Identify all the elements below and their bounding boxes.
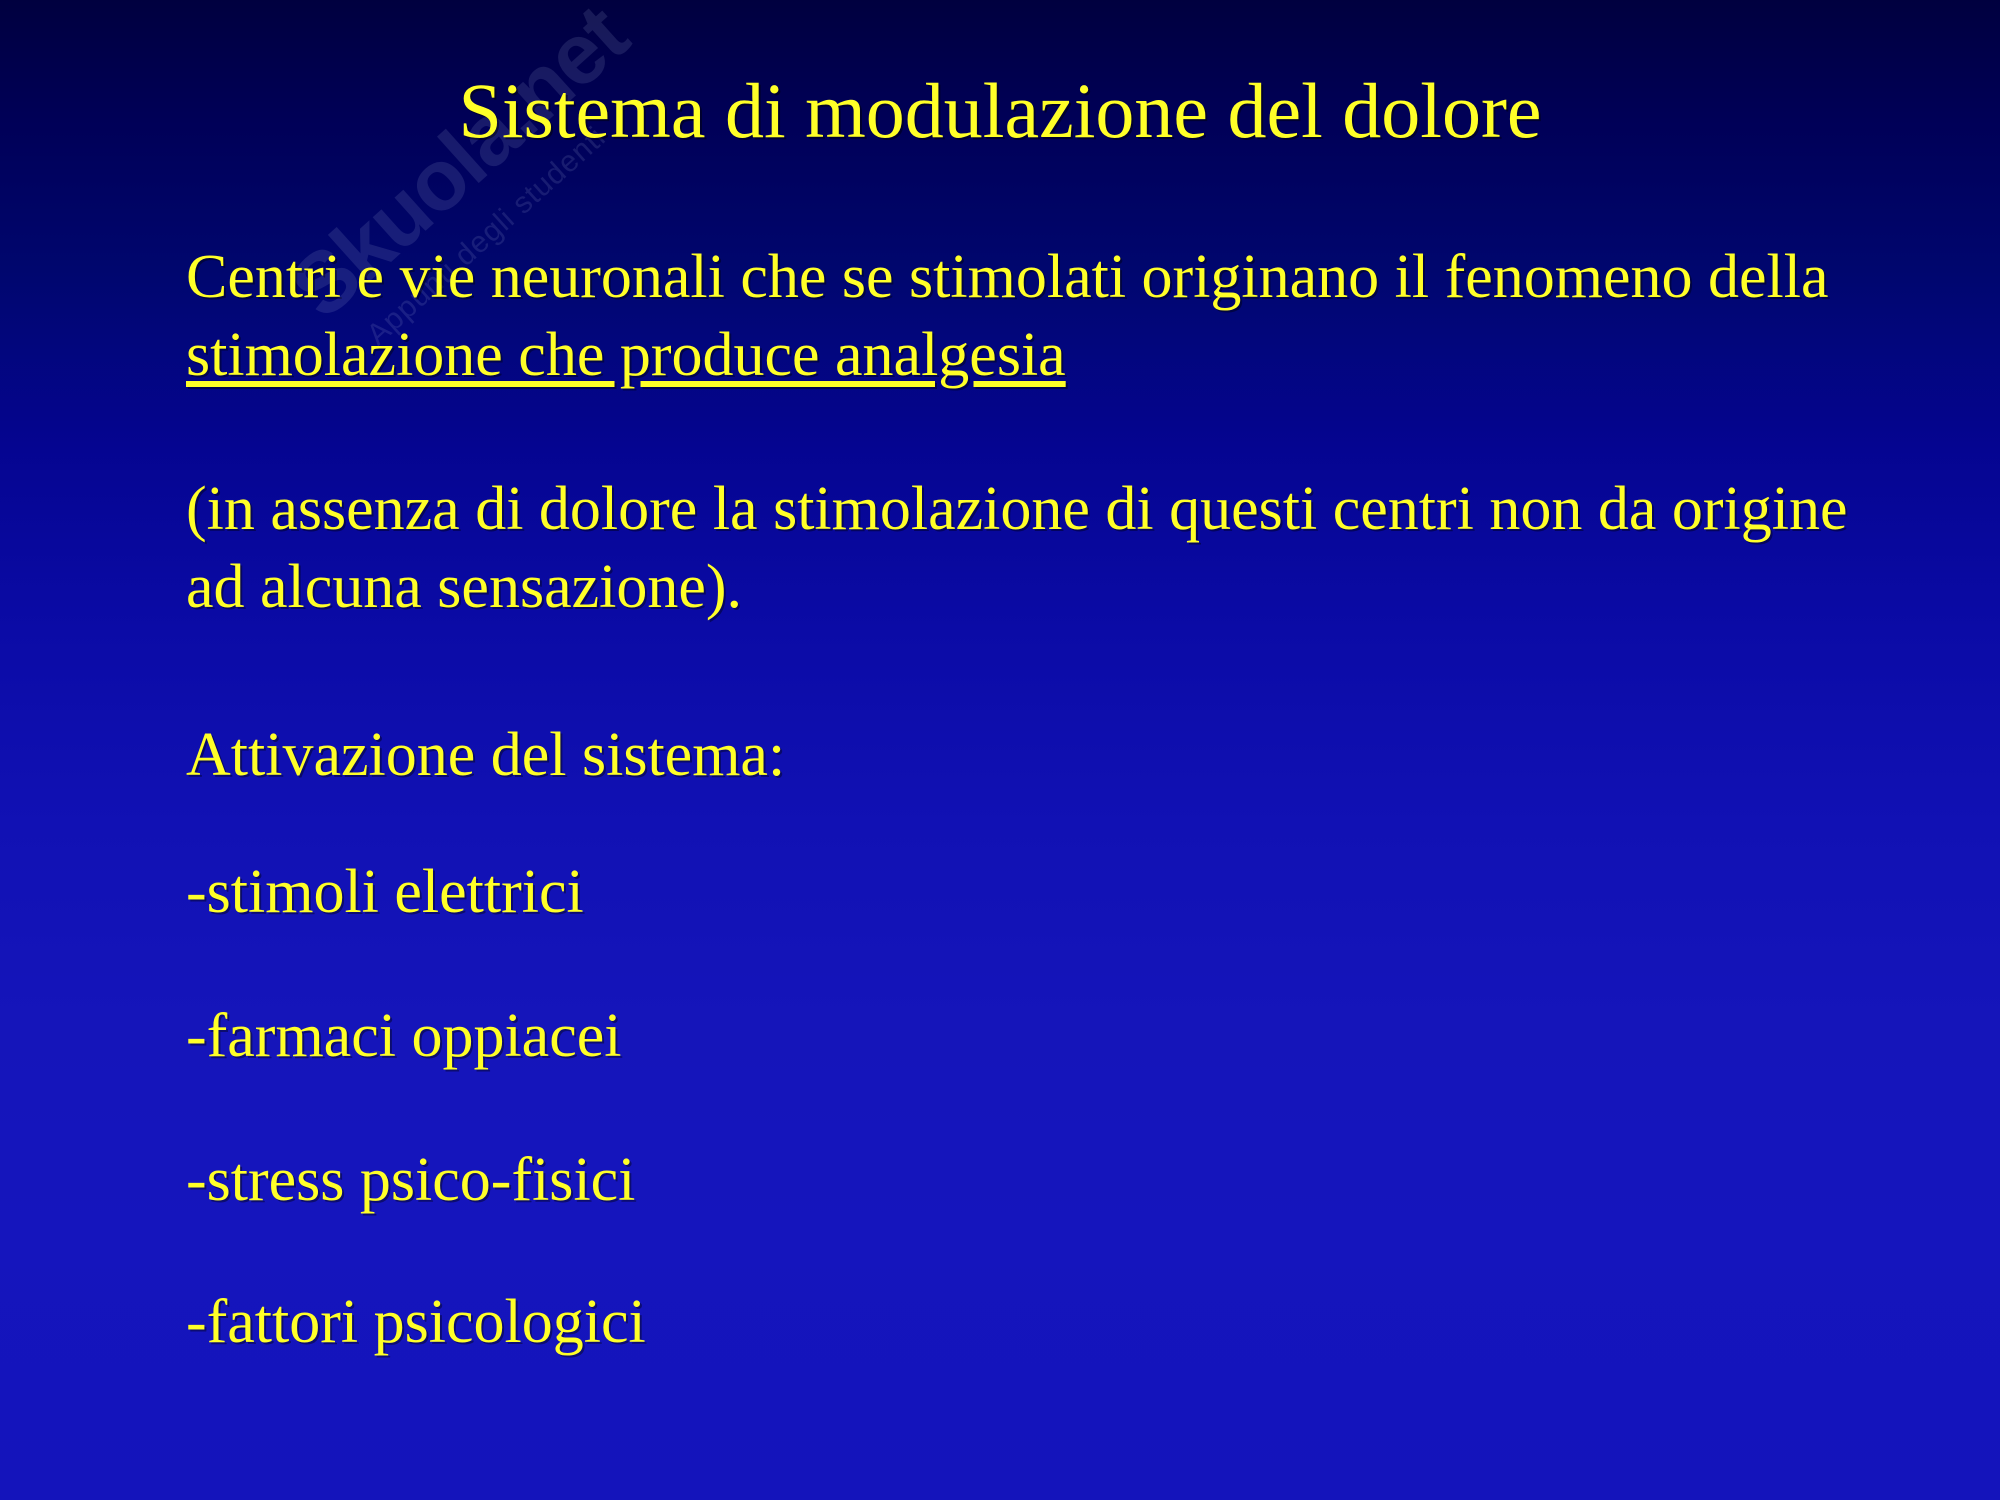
- presentation-slide: Skuola.net Appunti degli studenti Sistem…: [0, 0, 2000, 1500]
- slide-title: Sistema di modulazione del dolore: [0, 72, 2000, 150]
- paragraph-definition: Centri e vie neuronali che se stimolati …: [186, 238, 1886, 394]
- bullet-item-farmaci-oppiacei: -farmaci oppiacei: [186, 1002, 1886, 1070]
- bullet-item-stress-psico-fisici: -stress psico-fisici: [186, 1146, 1886, 1214]
- paragraph-parenthetical: (in assenza di dolore la stimolazione di…: [186, 470, 1886, 626]
- bullet-item-fattori-psicologici: -fattori psicologici: [186, 1288, 1886, 1356]
- paragraph-activation-heading: Attivazione del sistema:: [186, 716, 1886, 794]
- slide-content: Sistema di modulazione del dolore Centri…: [0, 0, 2000, 1500]
- definition-lead-text: Centri e vie neuronali che se stimolati …: [186, 243, 1829, 311]
- definition-underlined-phrase: stimolazione che produce analgesia: [186, 321, 1066, 389]
- bullet-item-stimoli-elettrici: -stimoli elettrici: [186, 858, 1886, 926]
